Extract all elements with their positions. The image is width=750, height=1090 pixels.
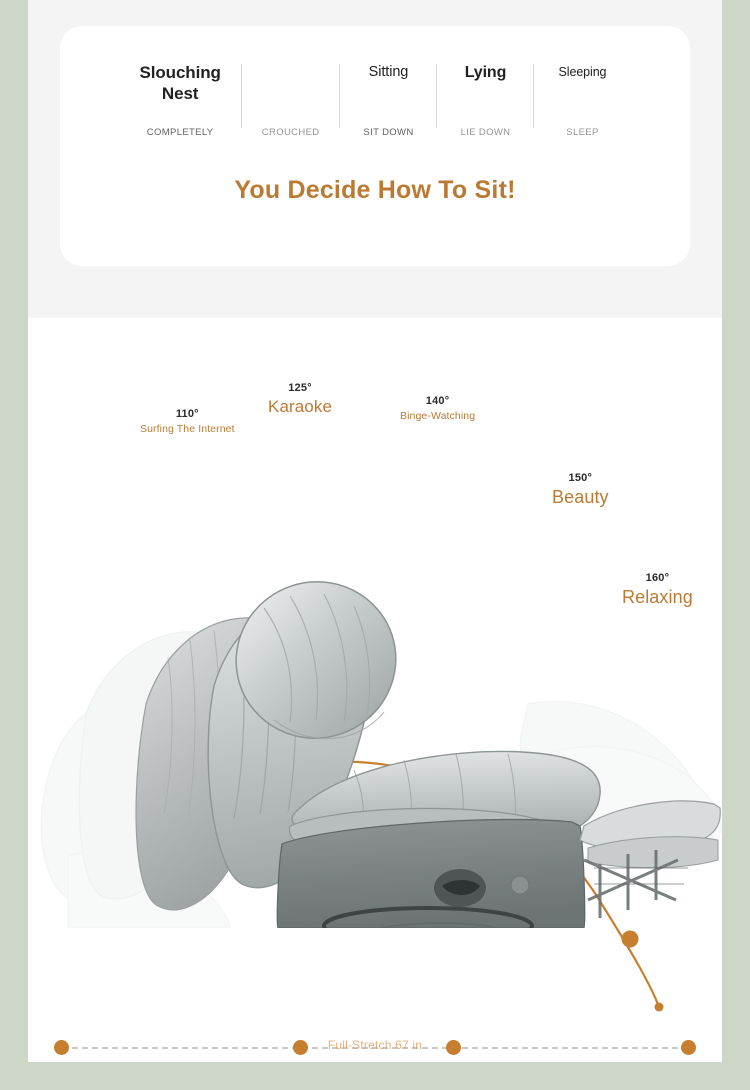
mode-title: Sitting bbox=[369, 62, 409, 83]
mode-subtitle: CROUCHED bbox=[262, 127, 320, 138]
hero-section: Slouching Nest COMPLETELY CROUCHED Sitti… bbox=[28, 0, 722, 318]
arc-endpoint-end-dot bbox=[655, 1003, 664, 1012]
mode-tab-slouching-nest[interactable]: Slouching Nest COMPLETELY bbox=[120, 62, 241, 138]
mode-title: Slouching Nest bbox=[140, 62, 221, 104]
mode-tab-lying[interactable]: Lying LIE DOWN bbox=[437, 62, 533, 138]
callout-degree: 110° bbox=[140, 408, 235, 420]
mode-tabs: Slouching Nest COMPLETELY CROUCHED Sitti… bbox=[120, 62, 631, 138]
page-sheet: Slouching Nest COMPLETELY CROUCHED Sitti… bbox=[28, 0, 722, 1062]
recline-lever-icon[interactable] bbox=[434, 869, 486, 907]
callout-110: 110° Surfing The Internet bbox=[140, 408, 235, 435]
side-button-icon[interactable] bbox=[511, 876, 529, 894]
recliner-chair-illustration bbox=[28, 508, 722, 928]
mode-tab-sitting[interactable]: Sitting SIT DOWN bbox=[340, 62, 436, 138]
callout-150: 150° Beauty bbox=[552, 472, 609, 508]
arc-dot-160[interactable] bbox=[622, 931, 639, 948]
mode-subtitle: COMPLETELY bbox=[147, 127, 214, 138]
chair-svg bbox=[28, 508, 722, 928]
callout-degree: 150° bbox=[552, 472, 609, 484]
page-frame: Slouching Nest COMPLETELY CROUCHED Sitti… bbox=[0, 0, 750, 1090]
mode-subtitle: LIE DOWN bbox=[461, 127, 511, 138]
mode-subtitle: SLEEP bbox=[566, 127, 598, 138]
mode-subtitle: SIT DOWN bbox=[363, 127, 413, 138]
callout-degree: 125° bbox=[268, 382, 332, 394]
mode-title: Lying bbox=[465, 62, 507, 83]
callout-activity: Karaoke bbox=[268, 397, 332, 417]
mode-title: Sleeping bbox=[559, 62, 607, 83]
chair-base-body bbox=[277, 819, 585, 928]
hero-headline: You Decide How To Sit! bbox=[234, 176, 515, 205]
hero-card: Slouching Nest COMPLETELY CROUCHED Sitti… bbox=[60, 26, 690, 266]
mode-tab-crouched[interactable]: CROUCHED bbox=[242, 62, 340, 138]
mode-tab-sleeping[interactable]: Sleeping SLEEP bbox=[534, 62, 630, 138]
callout-degree: 140° bbox=[400, 395, 475, 407]
callout-activity: Beauty bbox=[552, 487, 609, 508]
recline-diagram: 110° Surfing The Internet 125° Karaoke 1… bbox=[28, 318, 722, 1062]
callout-activity: Binge-Watching bbox=[400, 410, 475, 422]
full-stretch-measurement: Full-Stretch 67 in bbox=[28, 1034, 722, 1062]
callout-activity: Surfing The Internet bbox=[140, 423, 235, 435]
measure-label: Full-Stretch 67 in bbox=[28, 1038, 722, 1052]
callout-125: 125° Karaoke bbox=[268, 382, 332, 417]
callout-140: 140° Binge-Watching bbox=[400, 395, 475, 422]
